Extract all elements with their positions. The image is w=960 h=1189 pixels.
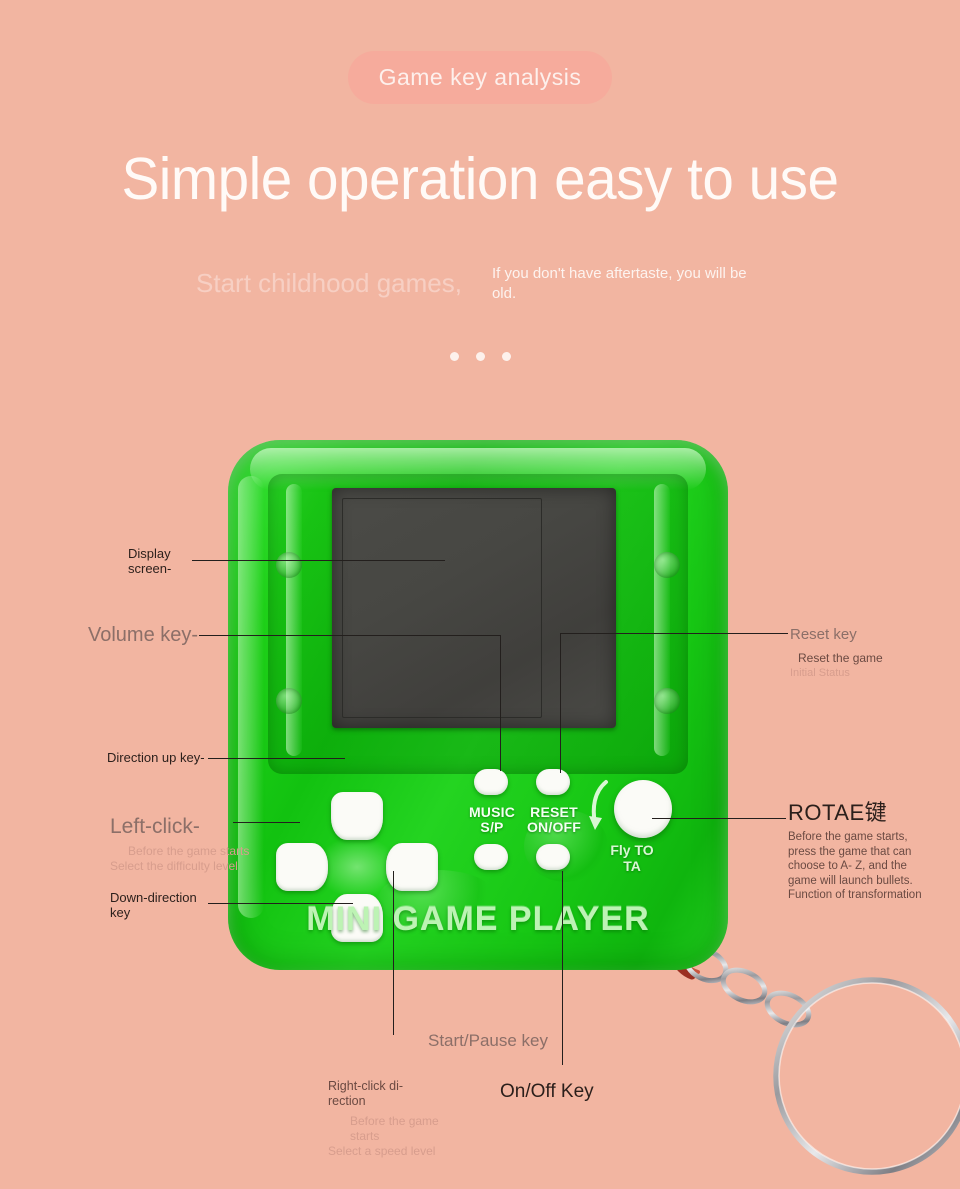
reset-key-sub2: Initial Status xyxy=(790,666,883,680)
down-direction-label-line1: Down-direction xyxy=(110,890,197,905)
annotation-on-off-key: On/Off Key xyxy=(500,1081,594,1103)
annotation-rotae-key: ROTAE键 Before the game starts, press the… xyxy=(788,800,960,903)
subtitle-primary: Start childhood games, xyxy=(196,264,462,298)
rotae-key-body: Before the game starts, press the game t… xyxy=(788,830,960,903)
screw-top-right xyxy=(654,552,680,578)
section-badge: Game key analysis xyxy=(348,51,612,104)
leader-volume-key xyxy=(199,635,501,636)
curved-arrow-icon xyxy=(588,778,614,836)
leader-start-pause-key xyxy=(393,871,394,1035)
rotae-body-line2: press the game that can xyxy=(788,845,960,860)
section-badge-label: Game key analysis xyxy=(379,64,582,91)
music-key-label-line1: MUSIC xyxy=(464,805,520,820)
on-off-key[interactable] xyxy=(536,844,570,870)
display-screen-label-line2: screen- xyxy=(128,561,171,576)
display-screen-label-line1: Display xyxy=(128,546,171,561)
rotae-key[interactable] xyxy=(614,780,672,838)
start-pause-key[interactable] xyxy=(474,844,508,870)
device-brand-text: MINI GAME PLAYER xyxy=(228,900,728,939)
annotation-volume-key: Volume key- xyxy=(88,624,198,647)
dot-separator xyxy=(0,352,960,361)
reset-key-label: RESET ON/OFF xyxy=(524,805,584,835)
keychain xyxy=(660,938,960,1184)
direction-left-key[interactable] xyxy=(276,843,328,891)
reset-key-label-line2: ON/OFF xyxy=(524,820,584,835)
leader-on-off-key xyxy=(562,871,563,1065)
leader-display-screen xyxy=(192,560,445,561)
left-click-sub1: Before the game starts xyxy=(110,844,249,859)
fly-to-ta-label: Fly TO TA xyxy=(596,842,668,874)
device-body: MUSIC S/P RESET ON/OFF Fly TO TA MINI GA… xyxy=(228,440,728,970)
bezel-rail-left xyxy=(286,484,302,756)
right-click-sub1: Before the game starts xyxy=(328,1114,468,1144)
leader-volume-key-drop xyxy=(500,635,501,771)
subtitle-row: Start childhood games, If you don't have… xyxy=(0,264,960,304)
leader-down-direction-key xyxy=(208,903,353,904)
rotae-body-line3: choose to A- Z, and the xyxy=(788,859,960,874)
annotation-display-screen: Display screen- xyxy=(128,546,171,576)
dot-3 xyxy=(502,352,511,361)
annotation-left-click: Left-click- Before the game starts Selec… xyxy=(110,815,249,874)
annotation-reset-key: Reset key Reset the game Initial Status xyxy=(790,626,883,680)
leader-direction-up-key xyxy=(208,758,345,759)
dot-2 xyxy=(476,352,485,361)
reset-key-title: Reset key xyxy=(790,626,883,644)
rotae-body-line1: Before the game starts, xyxy=(788,830,960,845)
right-click-sub2: Select a speed level xyxy=(328,1144,468,1159)
annotation-start-pause-key: Start/Pause key xyxy=(428,1031,548,1051)
left-click-title: Left-click- xyxy=(110,815,249,839)
leader-reset-key-drop xyxy=(560,633,561,773)
reset-key-label-line1: RESET xyxy=(524,805,584,820)
down-direction-label-line2: key xyxy=(110,905,197,920)
left-click-sub2: Select the difficulty level xyxy=(110,859,249,874)
rotae-body-line4: game will launch bullets. xyxy=(788,874,960,889)
right-click-title-line1: Right-click di- xyxy=(328,1079,468,1094)
leader-rotae-key xyxy=(652,818,786,819)
annotation-right-click: Right-click di- rection Before the game … xyxy=(328,1079,468,1159)
infographic-canvas: Game key analysis Simple operation easy … xyxy=(0,0,960,1183)
screw-top-left xyxy=(276,552,302,578)
mini-game-player-device: MUSIC S/P RESET ON/OFF Fly TO TA MINI GA… xyxy=(228,440,728,970)
rotae-body-line5: Function of transformation xyxy=(788,888,960,903)
bezel-rail-right xyxy=(654,484,670,756)
screw-bottom-right xyxy=(654,688,680,714)
fly-label-line2: TA xyxy=(596,858,668,874)
right-click-title-line2: rection xyxy=(328,1094,468,1109)
leader-reset-key xyxy=(560,633,788,634)
music-key-label-line2: S/P xyxy=(464,820,520,835)
annotation-direction-up-key: Direction up key- xyxy=(107,750,205,765)
dot-1 xyxy=(450,352,459,361)
display-screen xyxy=(332,488,616,728)
annotation-down-direction-key: Down-direction key xyxy=(110,890,197,920)
reset-key-sub1: Reset the game xyxy=(790,650,883,666)
fly-label-line1: Fly TO xyxy=(596,842,668,858)
page-title: Simple operation easy to use xyxy=(19,148,941,210)
music-key-label: MUSIC S/P xyxy=(464,805,520,835)
split-ring xyxy=(776,980,960,1172)
reset-key[interactable] xyxy=(536,769,570,795)
music-key[interactable] xyxy=(474,769,508,795)
screw-bottom-left xyxy=(276,688,302,714)
rotae-key-title: ROTAE键 xyxy=(788,800,960,826)
subtitle-secondary: If you don't have aftertaste, you will b… xyxy=(492,264,764,304)
direction-up-key[interactable] xyxy=(331,792,383,840)
